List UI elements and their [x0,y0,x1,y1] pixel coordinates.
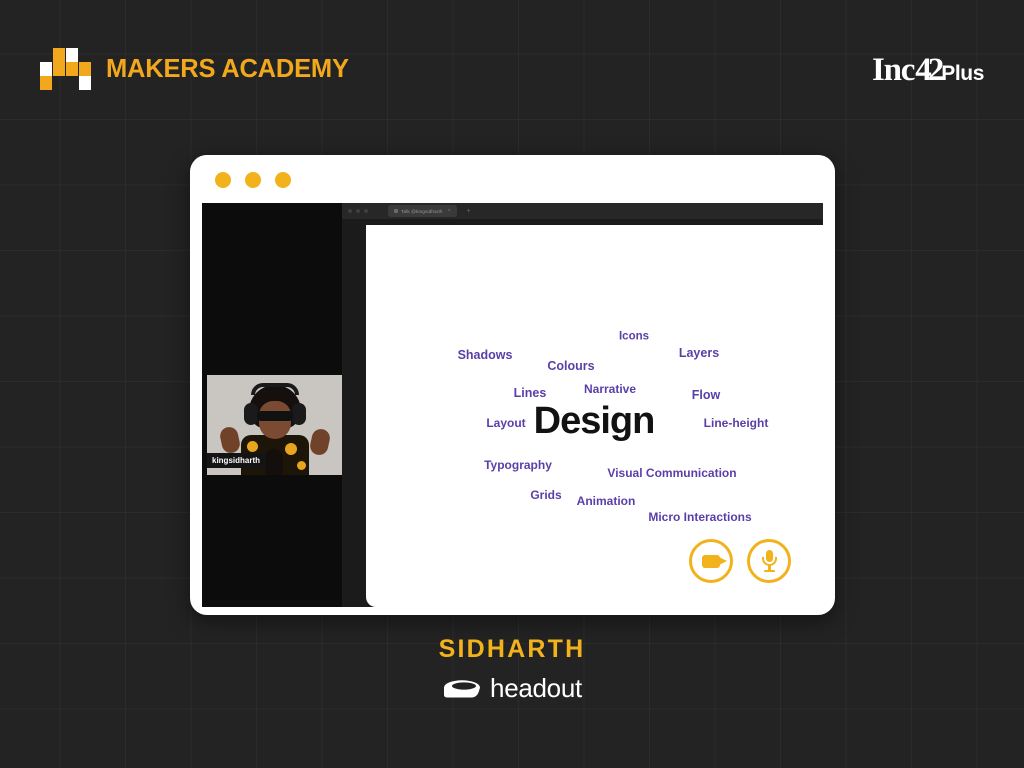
headphone-right-cup [292,403,306,425]
shared-minimize-dot[interactable] [356,209,360,213]
speaker-name: SIDHARTH [439,635,586,664]
video-camera-icon [702,555,720,568]
call-controls [689,539,791,583]
participant-strip: kingsidharth [202,203,342,607]
close-dot[interactable] [215,172,231,188]
wordcloud-term: Colours [547,360,594,373]
footer: SIDHARTH headout [0,635,1024,704]
camera-button[interactable] [689,539,733,583]
wordcloud-term: Animation [577,495,636,507]
desk-microphone [265,449,283,475]
wordcloud-term: Icons [619,331,649,343]
makers-academy-logo: MAKERS ACADEMY [40,48,349,90]
wordcloud-term: Shadows [458,349,513,362]
favicon-icon [394,209,398,213]
inc42-name: Inc [872,52,914,89]
shared-screen: Talk @kingsidharth × + IconsShadowsLayer… [342,203,823,607]
shared-close-dot[interactable] [348,209,352,213]
left-hand [218,425,241,454]
headphone-band [251,383,299,395]
inc42-number: 42 [915,52,940,89]
shirt-pattern [285,443,297,455]
wordcloud-term: Lines [514,387,547,400]
shirt-pattern [247,441,258,452]
wordcloud-center-term: Design [534,402,655,440]
browser-tab[interactable]: Talk @kingsidharth × [388,205,457,217]
wordcloud-term: Narrative [584,383,636,395]
wordcloud-term: Layout [486,417,525,429]
inc42-plus-label: Plus [941,62,984,86]
minimize-dot[interactable] [245,172,261,188]
new-tab-button[interactable]: + [467,208,471,215]
participant-video-tile[interactable]: kingsidharth [207,375,342,475]
blimp-icon [442,678,481,699]
headout-logo: headout [442,673,582,704]
wordcloud-term: Micro Interactions [648,511,751,523]
wordcloud-term: Visual Communication [607,467,736,479]
right-hand [308,427,331,456]
makers-academy-wordmark: MAKERS ACADEMY [106,55,349,84]
wordcloud-term: Line-height [704,417,769,429]
browser-tab-title: Talk @kingsidharth [401,209,443,214]
wordcloud-term: Flow [692,389,720,402]
wordcloud-term: Typography [484,459,552,471]
participant-name-label: kingsidharth [207,453,266,468]
header: MAKERS ACADEMY Inc 42 Plus [0,0,1024,130]
video-call-app: kingsidharth Talk @kingsidharth × + Icon… [202,203,823,607]
microphone-icon [760,550,778,572]
wordcloud-term: Grids [530,489,561,501]
microphone-button[interactable] [747,539,791,583]
pixel-blocks-icon [40,48,92,90]
blimp-icon-svg [442,678,481,699]
shared-maximize-dot[interactable] [364,209,368,213]
shared-page-content: IconsShadowsLayersColoursLinesNarrativeF… [366,225,823,607]
shirt-pattern [297,461,306,470]
window-titlebar [190,155,835,203]
headout-wordmark: headout [490,673,582,704]
traffic-light-dots [215,172,291,188]
inc42-plus-logo: Inc 42 Plus [872,52,984,89]
browser-window: kingsidharth Talk @kingsidharth × + Icon… [190,155,835,615]
shared-browser-tabbar: Talk @kingsidharth × + [342,203,823,219]
headphone-left-cup [244,403,258,425]
close-icon[interactable]: × [448,208,451,214]
maximize-dot[interactable] [275,172,291,188]
sunglasses [257,411,293,421]
wordcloud-term: Layers [679,347,719,360]
